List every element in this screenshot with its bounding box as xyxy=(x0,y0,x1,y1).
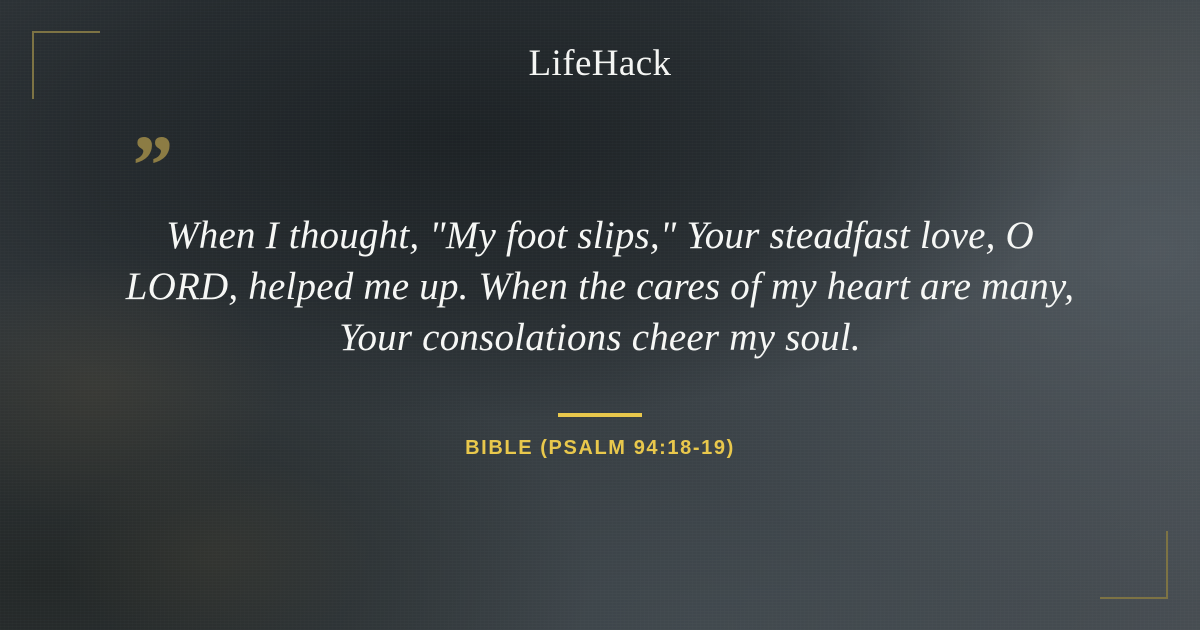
quotation-mark-icon: ” xyxy=(128,122,171,208)
quote-card: LifeHack ” When I thought, "My foot slip… xyxy=(0,0,1200,630)
divider-container xyxy=(0,404,1200,422)
corner-bracket-bottom-right-icon xyxy=(1100,531,1168,599)
quote-text: When I thought, "My foot slips," Your st… xyxy=(60,210,1140,363)
gold-divider xyxy=(558,413,642,417)
quote-attribution: BIBLE (PSALM 94:18-19) xyxy=(0,437,1200,460)
quote-line: LORD, helped me up. When the cares of my… xyxy=(60,261,1140,312)
brand-logo: LifeHack xyxy=(0,42,1200,85)
quote-line: When I thought, "My foot slips," Your st… xyxy=(60,210,1140,261)
quote-line: Your consolations cheer my soul. xyxy=(60,312,1140,363)
